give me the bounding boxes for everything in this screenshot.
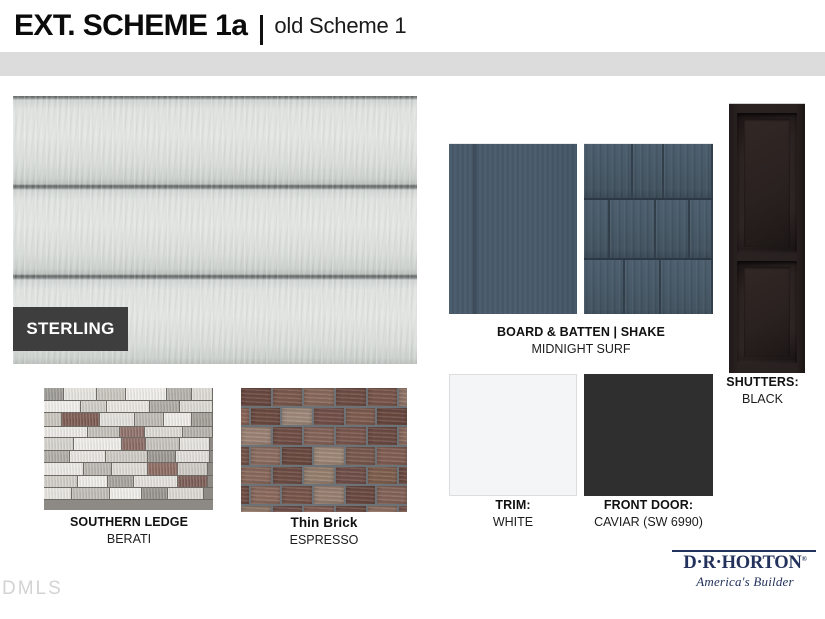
logo-tagline: America's Builder	[672, 574, 818, 590]
stone-unit	[192, 413, 213, 426]
board-header: EXT. SCHEME 1a old Scheme 1	[0, 0, 825, 52]
brick-unit	[399, 467, 407, 485]
stone-course	[44, 401, 213, 413]
trim-caption-title: TRIM:	[449, 498, 577, 514]
brick-course	[241, 467, 407, 485]
brick-unit	[336, 467, 366, 485]
brick-unit	[241, 388, 271, 406]
page-subtitle: old Scheme 1	[274, 15, 406, 37]
brick-course	[241, 447, 407, 465]
trim-caption-sub: WHITE	[449, 514, 577, 530]
siding-label-text: STERLING	[26, 319, 114, 339]
dr-horton-logo: D·R·HORTON® America's Builder	[672, 550, 818, 590]
brick-unit	[273, 388, 303, 406]
stone-unit	[120, 427, 146, 437]
board-batten-shake-caption-sub: MIDNIGHT SURF	[449, 341, 713, 357]
stone-unit	[192, 388, 214, 400]
brick-unit	[241, 467, 271, 485]
stone-swatch-southern-ledge	[44, 388, 213, 510]
stone-unit	[44, 451, 70, 462]
stone-unit	[81, 401, 106, 412]
logo-registered-mark: ®	[802, 555, 807, 563]
stone-unit	[78, 476, 108, 487]
stone-unit	[108, 476, 134, 487]
logo-name-text: D·R·HORTON	[683, 553, 801, 573]
stone-unit	[64, 388, 97, 400]
brick-unit	[241, 486, 249, 504]
stone-unit	[44, 463, 84, 475]
brick-unit	[377, 408, 407, 426]
stone-course	[44, 451, 213, 463]
header-rule	[0, 52, 825, 76]
brick-caption-title: Thin Brick	[224, 515, 424, 532]
shake-swatch	[584, 143, 713, 314]
stone-caption: SOUTHERN LEDGE BERATI	[24, 515, 234, 547]
stone-unit	[112, 463, 148, 475]
stone-unit	[44, 438, 74, 450]
brick-course	[241, 486, 407, 504]
stone-unit	[178, 463, 208, 475]
board-batten-shake-caption: BOARD & BATTEN | SHAKE MIDNIGHT SURF	[449, 325, 713, 357]
brick-course	[241, 506, 407, 512]
stone-caption-title: SOUTHERN LEDGE	[24, 515, 234, 531]
stone-unit	[180, 438, 210, 450]
shake-tile	[661, 260, 713, 314]
stone-unit	[148, 451, 176, 462]
stone-course	[44, 413, 213, 427]
brick-unit	[304, 467, 334, 485]
brick-unit	[368, 388, 398, 406]
shake-row	[584, 143, 713, 200]
mls-watermark: DMLS	[2, 578, 63, 600]
siding-label-badge: STERLING	[13, 307, 128, 351]
brick-unit	[377, 486, 407, 504]
brick-unit	[282, 408, 312, 426]
stone-course	[44, 438, 213, 451]
trim-caption: TRIM: WHITE	[449, 498, 577, 530]
stone-unit	[74, 438, 122, 450]
stone-unit	[100, 413, 135, 426]
shake-tile	[664, 143, 713, 198]
brick-unit	[346, 408, 376, 426]
brick-unit	[336, 427, 366, 445]
brick-course	[241, 427, 407, 445]
stone-unit	[122, 438, 146, 450]
stone-unit	[70, 451, 106, 462]
shake-tile	[625, 260, 661, 314]
front-door-caption: FRONT DOOR: CAVIAR (SW 6990)	[570, 498, 727, 530]
shake-tile	[610, 200, 656, 258]
stone-unit	[88, 427, 120, 437]
stone-unit	[84, 463, 112, 475]
brick-unit	[282, 486, 312, 504]
stone-unit	[164, 413, 191, 426]
shake-row	[584, 200, 713, 260]
brick-unit	[314, 486, 344, 504]
stone-unit	[44, 427, 88, 437]
stone-unit	[97, 388, 126, 400]
stone-unit	[146, 438, 180, 450]
stone-unit	[107, 401, 151, 412]
brick-unit	[241, 506, 271, 512]
brick-unit	[368, 506, 398, 512]
stone-unit	[148, 463, 178, 475]
shutters-caption-title: SHUTTERS:	[700, 375, 825, 391]
stone-unit	[106, 451, 148, 462]
brick-swatch-thin-brick	[241, 388, 407, 512]
board-batten-swatch	[449, 143, 577, 314]
shake-tile	[633, 143, 664, 198]
stone-unit	[134, 476, 178, 487]
shake-row	[584, 260, 713, 314]
stone-unit	[62, 413, 101, 426]
front-door-caption-sub: CAVIAR (SW 6990)	[570, 514, 727, 530]
brick-unit	[304, 388, 334, 406]
shake-tile	[656, 200, 690, 258]
shutters-caption: SHUTTERS: BLACK	[700, 375, 825, 407]
brick-course	[241, 408, 407, 426]
brick-unit	[282, 447, 312, 465]
brick-unit	[368, 427, 398, 445]
front-door-swatch	[584, 374, 713, 496]
stone-course	[44, 463, 213, 476]
brick-unit	[273, 467, 303, 485]
brick-caption-sub: ESPRESSO	[224, 532, 424, 548]
shutters-caption-sub: BLACK	[700, 391, 825, 407]
brick-unit	[304, 506, 334, 512]
brick-unit	[336, 506, 366, 512]
brick-unit	[314, 408, 344, 426]
shake-tile	[584, 143, 633, 198]
trim-swatch	[449, 374, 577, 496]
stone-course	[44, 388, 213, 401]
brick-course	[241, 388, 407, 406]
stone-unit	[145, 427, 183, 437]
stone-unit	[126, 388, 167, 400]
brick-unit	[251, 486, 281, 504]
stone-unit	[44, 388, 64, 400]
stone-caption-sub: BERATI	[24, 531, 234, 547]
shake-tile	[690, 200, 713, 258]
brick-unit	[273, 427, 303, 445]
stone-unit	[183, 427, 213, 437]
stone-unit	[176, 451, 210, 462]
brick-unit	[304, 427, 334, 445]
shutter-swatch	[729, 103, 805, 373]
stone-unit	[142, 488, 168, 499]
brick-unit	[346, 447, 376, 465]
brick-unit	[251, 408, 281, 426]
brick-unit	[241, 427, 271, 445]
shake-tile	[584, 260, 625, 314]
brick-unit	[251, 447, 281, 465]
stone-course	[44, 476, 213, 488]
stone-unit	[180, 401, 213, 412]
logo-rule	[672, 550, 816, 552]
stone-unit	[167, 388, 191, 400]
brick-unit	[399, 427, 407, 445]
stone-course	[44, 427, 213, 438]
brick-unit	[314, 447, 344, 465]
brick-unit	[273, 506, 303, 512]
brick-unit	[241, 408, 249, 426]
brick-unit	[377, 447, 407, 465]
brick-unit	[399, 506, 407, 512]
stone-unit	[44, 401, 81, 412]
brick-unit	[336, 388, 366, 406]
stone-unit	[150, 401, 179, 412]
stone-unit	[72, 488, 110, 499]
stone-course	[44, 488, 213, 500]
stone-unit	[44, 413, 62, 426]
stone-unit	[168, 488, 204, 499]
brick-unit	[399, 388, 407, 406]
shutter-panel-upper	[737, 113, 797, 253]
stone-unit	[44, 488, 72, 499]
brick-unit	[241, 447, 249, 465]
logo-company-name: D·R·HORTON®	[672, 554, 818, 573]
shutter-panel-lower	[737, 261, 797, 363]
stone-unit	[110, 488, 142, 499]
title-divider-icon	[260, 15, 263, 45]
board-batten-shake-caption-title: BOARD & BATTEN | SHAKE	[449, 325, 713, 341]
brick-caption: Thin Brick ESPRESSO	[224, 515, 424, 548]
front-door-caption-title: FRONT DOOR:	[570, 498, 727, 514]
shake-tile	[584, 200, 610, 258]
brick-unit	[368, 467, 398, 485]
stone-unit	[44, 476, 78, 487]
brick-unit	[346, 486, 376, 504]
stone-unit	[135, 413, 164, 426]
page-title: EXT. SCHEME 1a	[14, 11, 247, 41]
exterior-scheme-board: EXT. SCHEME 1a old Scheme 1 STERLING	[0, 0, 825, 619]
stone-unit	[178, 476, 208, 487]
